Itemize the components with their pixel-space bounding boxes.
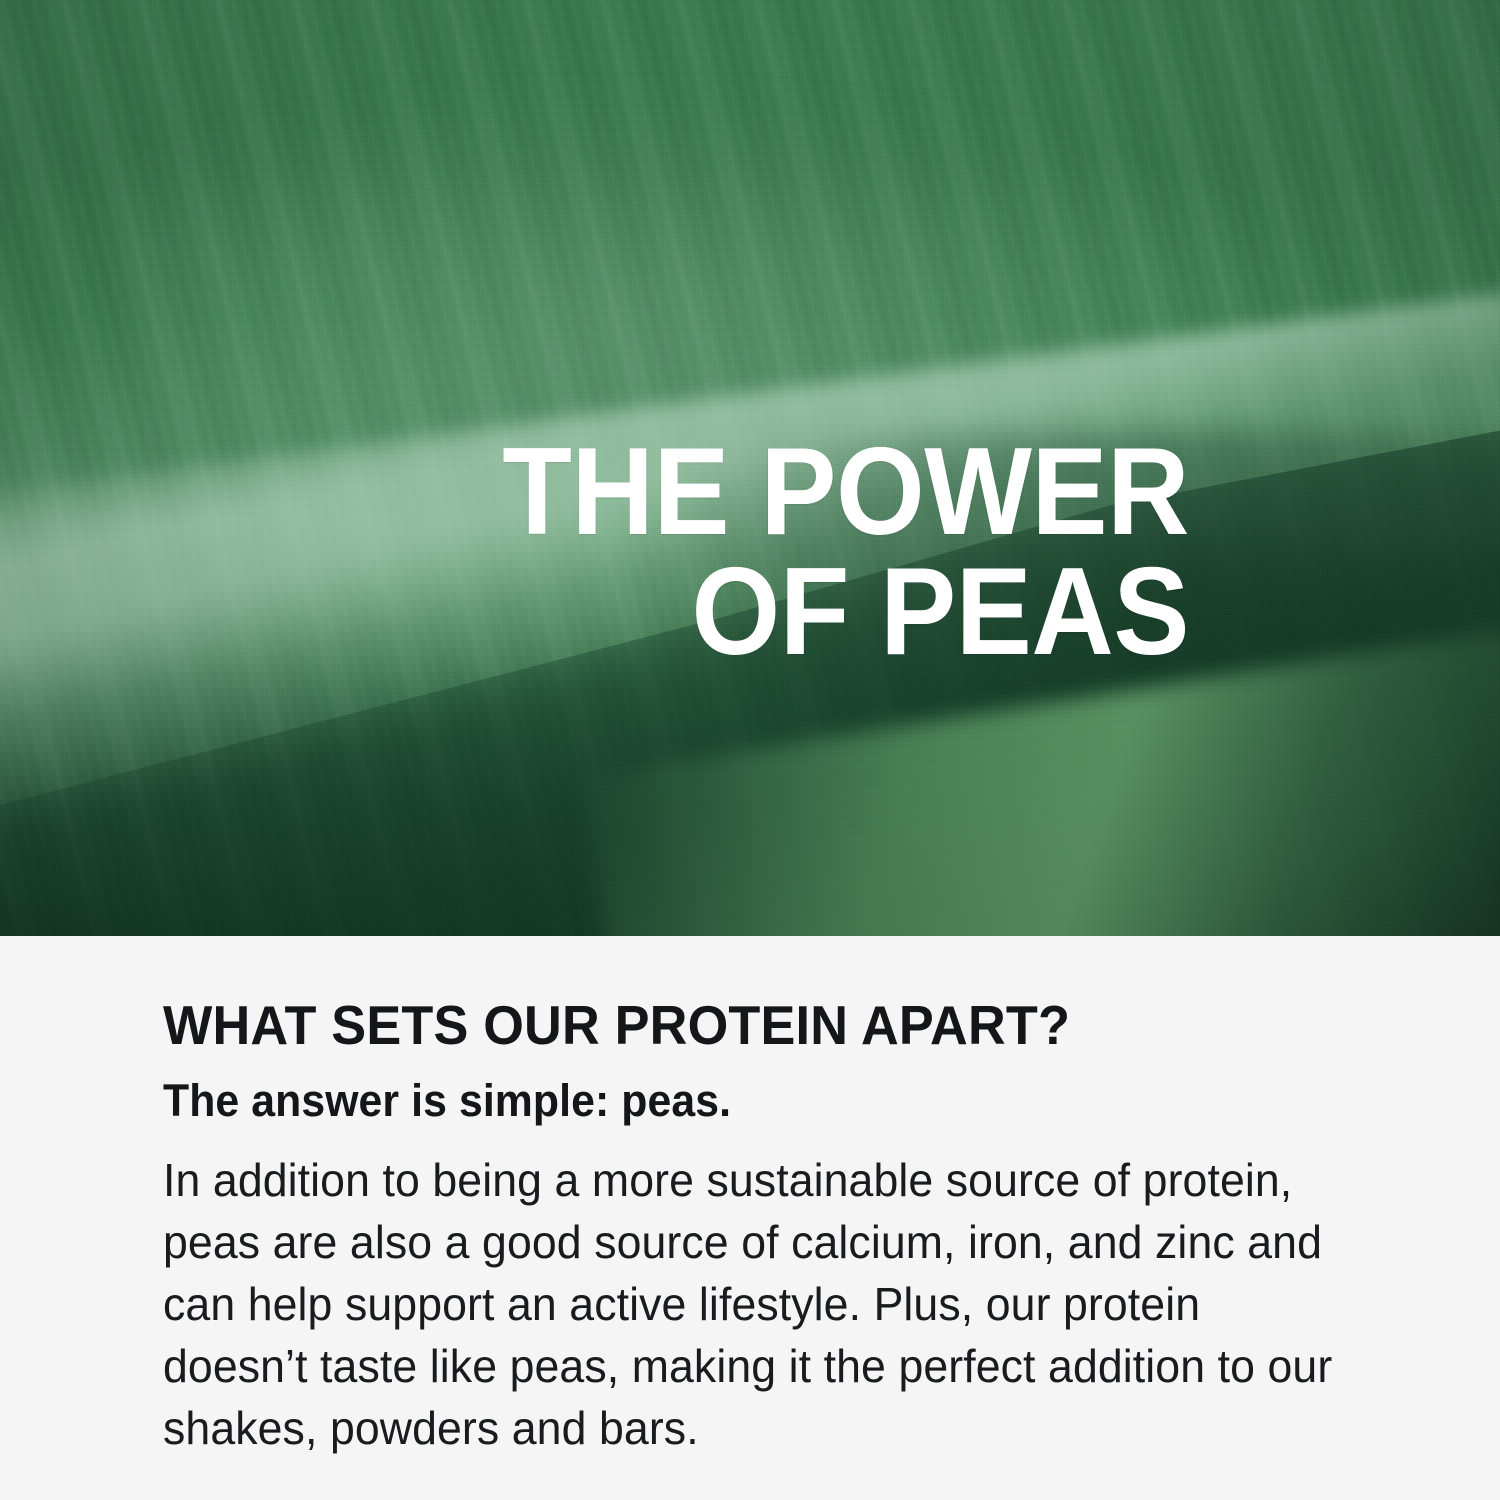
- marketing-infographic-page: THE POWER OF PEAS WHAT SETS OUR PROTEIN …: [0, 0, 1500, 1500]
- content-section: WHAT SETS OUR PROTEIN APART? The answer …: [0, 936, 1500, 1500]
- hero-leaf-image: THE POWER OF PEAS: [0, 0, 1500, 936]
- hero-headline: THE POWER OF PEAS: [95, 432, 1189, 673]
- section-subheading: The answer is simple: peas.: [163, 1053, 1332, 1123]
- section-heading: WHAT SETS OUR PROTEIN APART?: [163, 936, 1332, 1053]
- section-body-paragraph: In addition to being a more sustainable …: [163, 1123, 1342, 1459]
- content-inner: WHAT SETS OUR PROTEIN APART? The answer …: [163, 936, 1393, 1459]
